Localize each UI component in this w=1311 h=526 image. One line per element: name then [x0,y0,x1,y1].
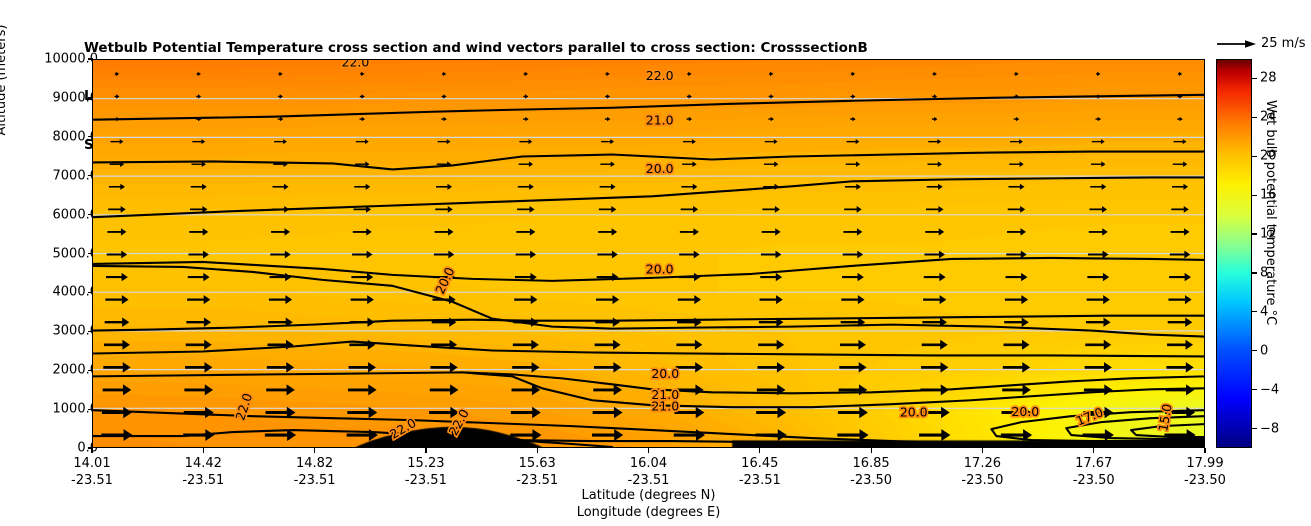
wind-vector [1005,295,1028,304]
wind-vector [919,429,950,441]
wind-vector [191,184,207,190]
wind-vector [360,94,365,98]
wind-vector [187,295,210,304]
colorbar-tick-mark [1252,389,1257,390]
wind-vector [197,72,201,76]
svg-text:20.0: 20.0 [900,405,928,420]
wind-vector [850,94,855,98]
x-tick-label-group: 17.26-23.50 [961,455,1003,489]
x-tick-label-lon: -23.51 [516,472,558,489]
wind-vector [1171,228,1190,235]
wind-vector [1006,273,1028,281]
wind-vector [605,117,611,121]
wind-vector [441,117,447,121]
wind-vector [183,429,214,441]
wind-vector [351,295,374,304]
colorbar-tick-mark [1252,156,1257,157]
wind-vector [1168,317,1193,326]
x-tick-label-lat: 15.63 [516,455,558,472]
wind-vector [1092,139,1105,144]
wind-vector [435,206,453,213]
x-axis-label-latitude: Latitude (degrees N) [0,488,1297,503]
wind-vector [839,384,868,395]
wind-vector [523,117,529,121]
wind-vector [103,362,130,372]
wind-vector [104,340,130,350]
wind-vector [524,72,528,76]
title-line-1: Wetbulb Potential Temperature cross sect… [84,40,1184,56]
wind-vector [107,251,127,259]
wind-vector [512,362,539,372]
wind-vector [274,139,287,144]
x-tick-label-group: 16.85-23.50 [850,455,892,489]
wind-vector [927,161,941,167]
wind-vector [1003,362,1030,372]
colorbar-tick-mark [1252,233,1257,234]
x-tick-label-group: 17.99-23.50 [1184,455,1226,489]
wind-vector [843,251,863,259]
wind-vector [434,251,454,259]
x-tick-label-group: 16.04-23.51 [628,455,670,489]
wind-vector [107,228,126,235]
colorbar-tick-mark [1252,272,1257,273]
wind-vector [1008,206,1026,213]
wind-vector [769,94,774,98]
x-tick-label-lat: 17.67 [1073,455,1115,472]
wind-vector [115,72,119,76]
wind-vector [1088,251,1108,259]
wind-vector [517,206,535,213]
wind-vector [436,184,452,190]
x-tick-label-lat: 17.99 [1184,455,1226,472]
contour-label: 20.0 [650,366,680,381]
wind-vector [922,340,948,350]
wind-vector [438,139,451,144]
x-tick-label-group: 14.01-23.51 [71,455,113,489]
wind-vector [599,206,617,213]
arrow-right-icon [1216,37,1256,51]
wind-vector [845,184,861,190]
wind-vector [758,340,784,350]
wind-vector [678,295,701,304]
wind-vector [351,273,373,281]
x-tick-label-lon: -23.51 [405,472,447,489]
wind-vector [269,295,292,304]
wind-vector [683,139,696,144]
wind-vector [682,161,696,167]
contour-label: 20.0 [645,261,675,276]
colorbar-tick-mark [1252,117,1257,118]
x-tick-mark [648,448,649,453]
x-tick-label-lon: -23.51 [71,472,113,489]
wind-vector [764,161,778,167]
x-tick-mark [537,448,538,453]
wind-vector [598,228,617,235]
wind-vector [1170,251,1190,259]
wind-vector [266,384,295,395]
wind-vector [1091,161,1105,167]
wind-vector [1096,117,1102,121]
wind-vector [352,251,372,259]
wind-vector [844,206,862,213]
wind-vector [109,184,125,190]
wind-vector [1177,117,1183,121]
colorbar-tick-mark [1252,195,1257,196]
x-tick-label-lat: 16.04 [628,455,670,472]
wind-vector [192,139,205,144]
wind-vector [846,161,860,167]
wind-vector [761,251,781,259]
wind-vector [839,362,866,372]
wind-vector [354,184,370,190]
wind-vector [928,139,941,144]
wind-vector [1172,184,1188,190]
wind-vector [108,206,126,213]
wind-vector [1173,161,1187,167]
wind-vector [596,295,619,304]
wind-vector [353,228,372,235]
cross-section-plot: 22.022.021.020.020.020.020.021.021.020.0… [92,59,1205,448]
wind-vector [514,317,539,326]
wind-vector [1090,184,1106,190]
wind-vector [600,161,614,167]
wind-vector [678,273,700,281]
wind-vector [687,94,692,98]
x-tick-mark [759,448,760,453]
wind-vector [272,206,290,213]
wind-vector [933,72,937,76]
wind-vector [768,117,774,121]
wind-vector [435,228,454,235]
x-tick-label-lat: 17.26 [961,455,1003,472]
wind-vector [519,161,533,167]
wind-vector [758,362,785,372]
x-tick-label-lat: 14.01 [71,455,113,472]
wind-vector [927,184,943,190]
wind-vector [923,295,946,304]
wind-vector [926,206,944,213]
wind-vector [681,184,697,190]
wind-vector [188,273,210,281]
wind-vector [601,139,614,144]
contour-label: 22.0 [645,68,675,83]
contour-label: 22.0 [232,390,256,423]
wind-vector [1087,295,1110,304]
wind-vector [1007,228,1026,235]
wind-vector [519,139,532,144]
wind-vector [523,94,528,98]
wind-vector [1085,340,1111,350]
x-tick-label-lon: -23.50 [1073,472,1115,489]
wind-vector [687,72,691,76]
wind-vector [185,362,212,372]
x-tick-label-group: 14.42-23.51 [182,455,224,489]
wind-vector [1014,72,1018,76]
x-tick-label-group: 15.63-23.51 [516,455,558,489]
wind-vector [278,72,282,76]
wind-vector [760,295,783,304]
wind-vector [1166,384,1195,395]
wind-vector [516,228,535,235]
wind-vector [430,384,459,395]
wind-key-label: 25 m/s [1261,36,1306,51]
colorbar-tick-mark [1252,78,1257,79]
svg-text:20.0: 20.0 [432,265,457,296]
wind-vector [1174,139,1187,144]
wind-vector [1014,117,1020,121]
contours-and-wind-vectors: 22.022.021.020.020.020.020.021.021.020.0… [93,60,1204,447]
wind-vector [1009,161,1023,167]
x-tick-mark [425,448,426,453]
x-tick-mark [982,448,983,453]
wind-vector [518,184,534,190]
wind-vector [186,340,212,350]
wind-vector [769,72,773,76]
wind-vector [1166,362,1193,372]
wind-vector [1008,184,1024,190]
contour-label: 17.0 [1073,404,1106,429]
wind-vector [430,362,457,372]
x-tick-label-lat: 16.45 [739,455,781,472]
wind-vector [272,184,288,190]
wind-vector [111,139,124,144]
svg-text:20.0: 20.0 [651,366,679,381]
wind-vector [267,362,294,372]
x-tick-label-group: 16.45-23.51 [739,455,781,489]
wind-vector [680,228,699,235]
wind-vector [189,228,208,235]
wind-vector [356,139,369,144]
x-tick-label-lon: -23.50 [961,472,1003,489]
svg-text:20.0: 20.0 [646,161,674,176]
wind-vector [516,251,536,259]
x-tick-mark [91,448,92,453]
wind-vector [1083,429,1114,441]
contour-line [93,177,1204,217]
colorbar-tick-label: −4 [1260,382,1279,397]
wind-vector [925,228,944,235]
colorbar-tick-label: 28 [1260,71,1277,86]
wind-vector [1089,228,1108,235]
wind-vector [679,251,699,259]
x-tick-label-lat: 15.23 [405,455,447,472]
wind-vector [105,295,128,304]
x-axis-label-longitude: Longitude (degrees E) [0,505,1297,520]
wind-vector [106,273,128,281]
wind-vector [595,340,621,350]
wind-vector [1085,362,1112,372]
wind-vector [762,206,780,213]
wind-vector [184,384,213,395]
wind-vector [442,72,446,76]
svg-text:20.0: 20.0 [646,261,674,276]
x-tick-label-group: 15.23-23.51 [405,455,447,489]
svg-text:22.0: 22.0 [342,60,370,69]
wind-vector [348,384,377,395]
x-tick-mark [314,448,315,453]
colorbar [1216,59,1252,448]
wind-vector [851,72,855,76]
wind-vector-key: 25 m/s [1216,36,1306,51]
svg-text:22.0: 22.0 [646,68,674,83]
contour-label: 20.0 [899,405,929,420]
x-tick-label-lat: 16.85 [850,455,892,472]
wind-vector [189,251,209,259]
wind-vector [360,117,366,121]
wind-vector [762,228,781,235]
wind-vector [101,429,132,441]
wind-vector [760,273,782,281]
wind-vector [271,228,290,235]
wind-vector [1167,340,1193,350]
x-tick-mark [203,448,204,453]
colorbar-tick-mark [1252,311,1257,312]
wind-vector [514,295,537,304]
wind-vector [843,228,862,235]
wind-vector [676,340,702,350]
wind-vector [593,384,622,395]
wind-vector [765,139,778,144]
wind-vector [687,117,693,121]
contour-label: 20.0 [1010,404,1040,419]
wind-vector [594,362,621,372]
wind-vector [1169,273,1191,281]
wind-vector [1096,72,1100,76]
x-tick-mark [871,448,872,453]
wind-vector [921,362,948,372]
wind-vector [442,94,447,98]
x-tick-label-lon: -23.51 [739,472,781,489]
colorbar-tick-mark [1252,428,1257,429]
colorbar-gradient [1217,60,1251,447]
y-axis-label: Altitude (meters) [0,0,9,170]
wind-vector [114,94,119,98]
colorbar-tick-mark [1252,350,1257,351]
x-tick-label-lon: -23.51 [294,472,336,489]
x-tick-label-lon: -23.50 [850,472,892,489]
wind-vector [103,384,132,395]
wind-vector [681,206,699,213]
wind-vector [1010,139,1023,144]
wind-vector [1003,340,1029,350]
wind-vector [360,72,364,76]
colorbar-tick-label: −8 [1260,421,1279,436]
wind-vector [924,251,944,259]
wind-vector [114,117,120,121]
wind-vector [597,251,617,259]
wind-vector [1089,206,1107,213]
wind-vector [840,340,866,350]
wind-vector [349,362,376,372]
wind-vector [350,317,375,326]
wind-vector [595,317,620,326]
wind-vector [605,94,610,98]
wind-vector [1178,72,1182,76]
wind-vector [600,184,616,190]
svg-text:15.0: 15.0 [1155,403,1175,433]
x-tick-label-lat: 14.42 [182,455,224,472]
wind-vector [920,384,949,395]
x-tick-label-group: 14.82-23.51 [294,455,336,489]
wind-vector [1086,317,1111,326]
wind-vector [1087,273,1109,281]
wind-vector [270,251,290,259]
wind-vector [842,273,864,281]
wind-vector [186,317,211,326]
svg-text:21.0: 21.0 [646,112,674,127]
contour-label: 21.0 [650,398,680,413]
x-tick-label-group: 17.67-23.50 [1073,455,1115,489]
svg-text:22.0: 22.0 [232,391,255,422]
wind-vector [1084,384,1113,395]
x-tick-mark [1204,448,1205,453]
wind-vector [846,139,859,144]
wind-vector [1004,317,1029,326]
wind-vector [105,317,130,326]
colorbar-title: Wet bulb potential temperature °C [1263,100,1278,350]
contour-label: 21.0 [645,112,675,127]
wind-vector [1096,94,1101,98]
contour-label: 20.0 [645,161,675,176]
wind-vector [513,340,539,350]
wind-vector [932,117,938,121]
wind-vector [196,94,201,98]
contour-line [93,342,1204,357]
svg-text:21.0: 21.0 [651,398,679,413]
wind-vector [592,429,623,441]
x-tick-label-lon: -23.51 [628,472,670,489]
wind-vector [841,295,864,304]
svg-text:20.0: 20.0 [1011,404,1039,419]
wind-vector [1171,206,1189,213]
x-tick-mark [1093,448,1094,453]
wind-vector [605,72,609,76]
x-tick-label-lat: 14.82 [294,455,336,472]
wind-vector [278,94,283,98]
wind-vector [924,273,946,281]
contour-label: 22.0 [340,60,370,69]
wind-vector [1168,295,1191,304]
x-tick-label-lon: -23.50 [1184,472,1226,489]
wind-vector [756,429,787,441]
x-tick-label-lon: -23.51 [182,472,224,489]
wind-vector [850,117,856,121]
contour-label: 15.0 [1155,402,1175,434]
